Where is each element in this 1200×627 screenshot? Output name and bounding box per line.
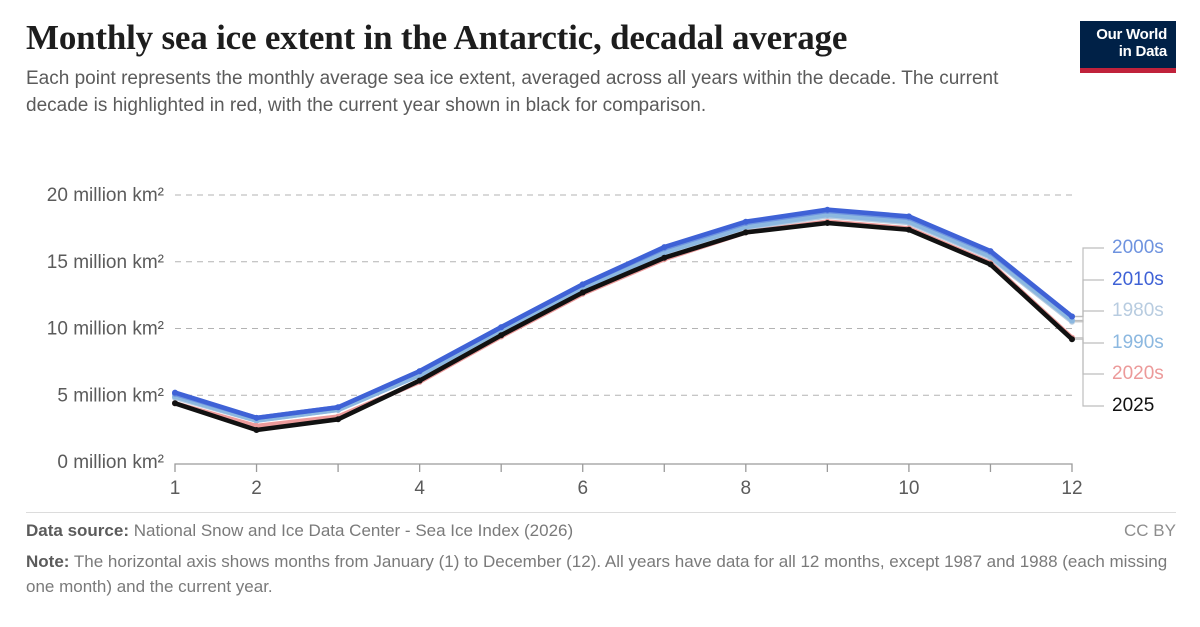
legend-leader-line xyxy=(1075,248,1104,317)
x-axis-tick-label: 4 xyxy=(414,478,425,499)
data-point[interactable] xyxy=(417,378,423,384)
chart-page: Monthly sea ice extent in the Antarctic,… xyxy=(0,0,1200,627)
data-point[interactable] xyxy=(172,390,178,396)
x-axis: 124681012 xyxy=(170,464,1083,499)
legend-label-2000s[interactable]: 2000s xyxy=(1112,237,1164,258)
data-point[interactable] xyxy=(335,416,341,422)
data-point[interactable] xyxy=(498,324,504,330)
data-point[interactable] xyxy=(254,427,260,433)
y-axis-tick-label: 10 million km² xyxy=(47,319,164,340)
data-point[interactable] xyxy=(824,220,830,226)
data-point[interactable] xyxy=(743,219,749,225)
data-point[interactable] xyxy=(1069,336,1075,342)
series-line[interactable] xyxy=(175,215,1072,421)
data-point[interactable] xyxy=(580,290,586,296)
data-point[interactable] xyxy=(417,368,423,374)
note-text: The horizontal axis shows months from Ja… xyxy=(26,552,1167,596)
y-axis-tick-label: 20 million km² xyxy=(47,185,164,206)
logo-line-2: in Data xyxy=(1119,44,1167,60)
y-axis-tick-label: 15 million km² xyxy=(47,252,164,273)
data-point[interactable] xyxy=(580,281,586,287)
footer-divider xyxy=(26,512,1176,513)
data-source-label: Data source: xyxy=(26,521,129,540)
data-source: Data source: National Snow and Ice Data … xyxy=(26,521,573,541)
x-axis-line xyxy=(175,464,1072,472)
legend-label-1990s[interactable]: 1990s xyxy=(1112,332,1164,353)
data-source-value[interactable]: National Snow and Ice Data Center - Sea … xyxy=(134,521,573,540)
legend-label-2010s[interactable]: 2010s xyxy=(1112,269,1164,290)
logo-line-1: Our World xyxy=(1096,27,1167,43)
chart-plot-area[interactable]: 0 million km²5 million km²10 million km²… xyxy=(0,168,1200,508)
x-axis-tick-label: 10 xyxy=(898,478,919,499)
legend-label-1980s[interactable]: 1980s xyxy=(1112,300,1164,321)
x-axis-tick-label: 1 xyxy=(170,478,181,499)
data-point[interactable] xyxy=(172,400,178,406)
license-badge[interactable]: CC BY xyxy=(1124,521,1176,541)
series-2020s[interactable] xyxy=(172,219,1075,429)
data-point[interactable] xyxy=(906,213,912,219)
series-line[interactable] xyxy=(175,216,1072,420)
data-point[interactable] xyxy=(988,248,994,254)
chart-footer: Data source: National Snow and Ice Data … xyxy=(26,512,1176,599)
y-axis-tick-label: 0 million km² xyxy=(57,452,164,473)
data-point[interactable] xyxy=(906,227,912,233)
line-chart-svg[interactable]: 0 million km²5 million km²10 million km²… xyxy=(0,168,1200,508)
note-row: Note: The horizontal axis shows months f… xyxy=(26,550,1176,599)
our-world-in-data-logo[interactable]: Our World in Data xyxy=(1080,21,1176,73)
x-axis-tick-label: 6 xyxy=(577,478,588,499)
series-group[interactable] xyxy=(172,207,1075,433)
series-2010s[interactable] xyxy=(172,207,1075,421)
legend-leader-line xyxy=(1075,339,1104,406)
data-point[interactable] xyxy=(661,255,667,261)
legend[interactable]: 2000s2010s1980s1990s2020s2025 xyxy=(1075,237,1164,416)
note-label: Note: xyxy=(26,552,69,571)
x-axis-tick-label: 12 xyxy=(1061,478,1082,499)
data-point[interactable] xyxy=(498,332,504,338)
data-point[interactable] xyxy=(254,415,260,421)
x-axis-tick-label: 2 xyxy=(251,478,262,499)
series-2025[interactable] xyxy=(172,220,1075,433)
data-point[interactable] xyxy=(335,404,341,410)
source-row: Data source: National Snow and Ice Data … xyxy=(26,521,1176,541)
data-point[interactable] xyxy=(824,207,830,213)
legend-label-2020s[interactable]: 2020s xyxy=(1112,363,1164,384)
data-point[interactable] xyxy=(988,261,994,267)
data-point[interactable] xyxy=(743,229,749,235)
legend-label-2025[interactable]: 2025 xyxy=(1112,395,1154,416)
x-axis-tick-label: 8 xyxy=(741,478,752,499)
series-line[interactable] xyxy=(175,223,1072,430)
y-axis-tick-label: 5 million km² xyxy=(57,385,164,406)
chart-subtitle: Each point represents the monthly averag… xyxy=(26,66,1016,120)
data-point[interactable] xyxy=(1069,314,1075,320)
data-point[interactable] xyxy=(661,244,667,250)
chart-header: Monthly sea ice extent in the Antarctic,… xyxy=(26,18,1174,120)
page-title: Monthly sea ice extent in the Antarctic,… xyxy=(26,18,1056,58)
